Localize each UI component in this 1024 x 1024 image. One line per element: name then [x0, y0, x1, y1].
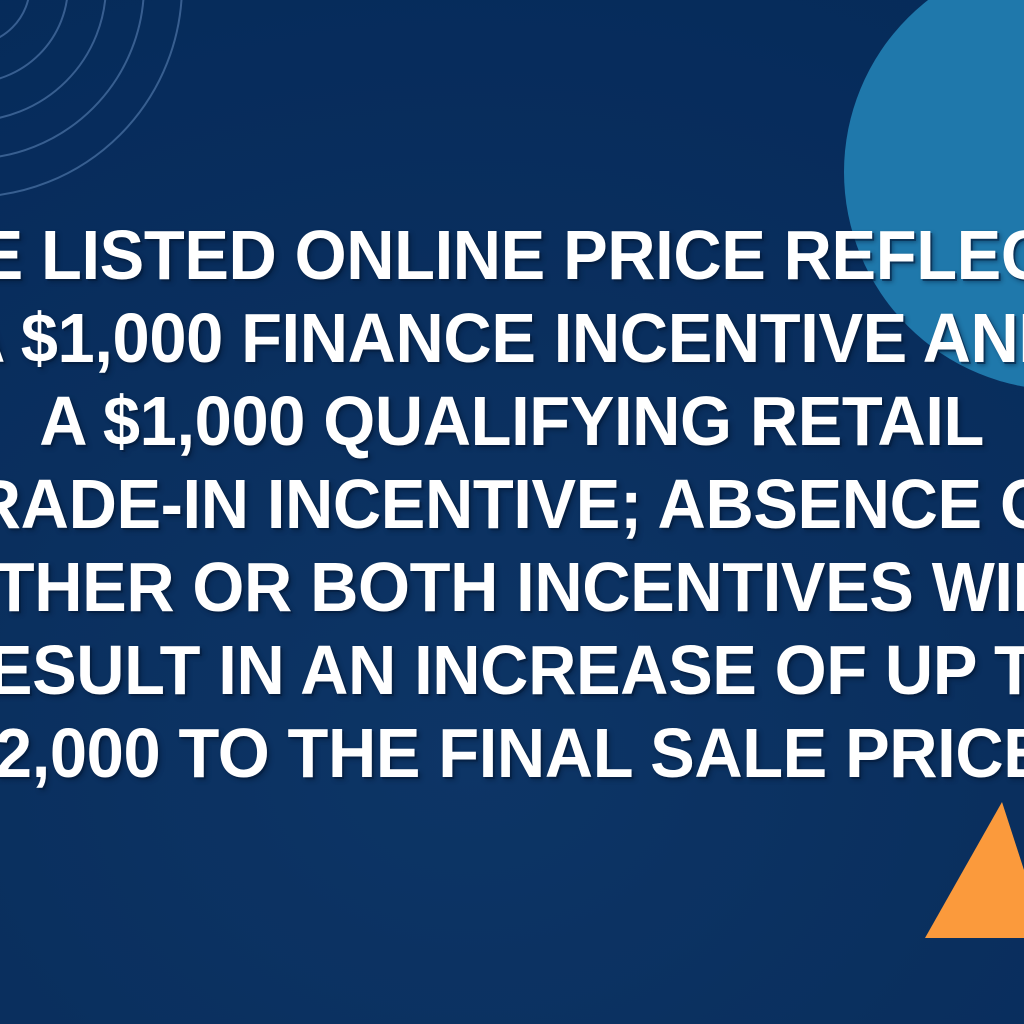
arc-ring-3	[0, 0, 106, 121]
headline-line-6: RESULT IN AN INCREASE OF UP TO	[0, 629, 1024, 712]
headline-line-2: A $1,000 FINANCE INCENTIVE AND	[0, 297, 1024, 380]
headline-line-7: $2,000 TO THE FINAL SALE PRICE.	[0, 712, 1024, 795]
arc-ring-1	[0, 0, 30, 45]
headline-line-5: EITHER OR BOTH INCENTIVES WILL	[0, 546, 1024, 629]
accent-triangle	[925, 802, 1024, 938]
headline-line-1: THE LISTED ONLINE PRICE REFLECTS	[0, 214, 1024, 297]
headline-line-3: A $1,000 QUALIFYING RETAIL	[40, 380, 985, 463]
arc-ring-2	[0, 0, 68, 83]
arc-ring-5	[0, 0, 182, 197]
promo-card: THE LISTED ONLINE PRICE REFLECTS A $1,00…	[0, 0, 1024, 1024]
headline-line-4: TRADE-IN INCENTIVE; ABSENCE OF	[0, 463, 1024, 546]
arc-ring-4	[0, 0, 144, 159]
disclaimer-text-block: THE LISTED ONLINE PRICE REFLECTS A $1,00…	[0, 214, 1024, 795]
concentric-arcs	[0, 0, 182, 197]
